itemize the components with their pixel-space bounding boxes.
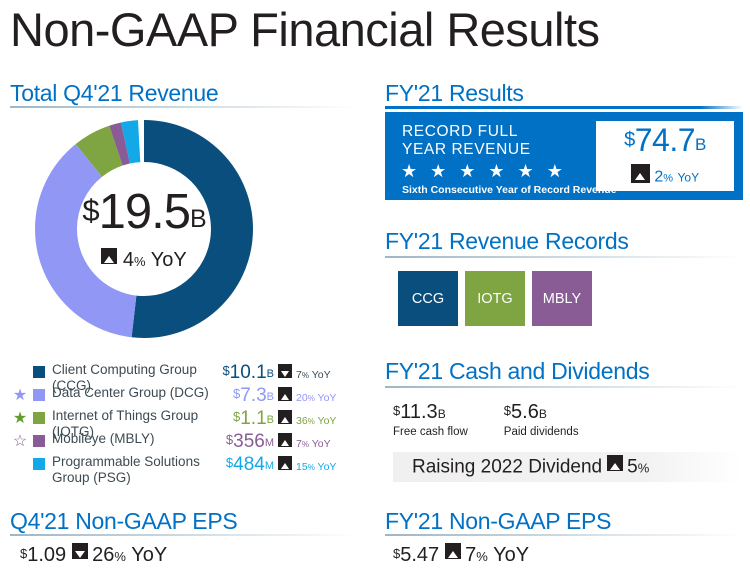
legend-delta-ccg: 7% YoY bbox=[278, 364, 360, 383]
legend-item-psg: Programmable Solutions Group (PSG) $484M… bbox=[12, 454, 360, 488]
q4-eps-pct: % bbox=[114, 549, 126, 564]
free-cash-flow-figure: $11.3B Free cash flow bbox=[393, 400, 468, 439]
fy-revenue-yoy-label: YoY bbox=[678, 171, 700, 185]
legend-swatch-dcg bbox=[33, 389, 45, 401]
legend-unit-ccg: B bbox=[267, 368, 274, 380]
legend-delta-yoy-dcg: YoY bbox=[318, 392, 337, 404]
legend-delta-pct-dcg: % bbox=[308, 394, 315, 403]
legend-delta-pct-iotg: % bbox=[308, 417, 315, 426]
star-rating-icons: ★ ★ ★ ★ ★ ★ bbox=[401, 162, 567, 180]
section-header-revenue-records: FY'21 Revenue Records bbox=[385, 228, 629, 254]
donut-yoy-value: 4 bbox=[123, 248, 134, 270]
donut-total-value: $19.5B bbox=[82, 186, 205, 244]
section-header-total-revenue: Total Q4'21 Revenue bbox=[10, 80, 218, 106]
legend-delta-pct-ccg: % bbox=[302, 371, 309, 380]
legend-number-iotg: 1.1 bbox=[240, 408, 266, 429]
triangle-up-icon bbox=[631, 164, 650, 183]
legend-swatch-iotg bbox=[33, 412, 45, 424]
q4-eps-number: 1.09 bbox=[27, 544, 66, 566]
section-rule-revenue-records bbox=[385, 256, 743, 258]
free-cash-flow-number: 11.3 bbox=[400, 401, 437, 423]
legend-item-iotg: ★ Internet of Things Group (IOTG) $1.1B … bbox=[12, 408, 360, 431]
record-box-iotg: IOTG bbox=[465, 271, 525, 326]
donut-unit: B bbox=[190, 205, 206, 233]
section-rule-total-revenue bbox=[10, 106, 358, 108]
free-cash-flow-unit: B bbox=[438, 407, 446, 421]
fy-revenue-currency: $ bbox=[624, 129, 635, 151]
record-revenue-banner: RECORD FULL YEAR REVENUE ★ ★ ★ ★ ★ ★ Six… bbox=[385, 112, 743, 200]
triangle-down-icon bbox=[72, 543, 88, 559]
q4-eps-value: $1.0926% YoY bbox=[20, 542, 167, 569]
legend-currency-ccg: $ bbox=[222, 363, 229, 378]
legend-number-dcg: 7.3 bbox=[240, 385, 266, 406]
revenue-donut-chart: $19.5B 4% YoY bbox=[27, 112, 261, 346]
legend-item-dcg: ★ Data Center Group (DCG) $7.3B 20% YoY bbox=[12, 385, 360, 408]
fy-revenue-yoy-pct: % bbox=[663, 173, 673, 185]
paid-dividends-figure: $5.6B Paid dividends bbox=[504, 400, 579, 439]
legend-number-ccg: 10.1 bbox=[230, 362, 267, 383]
triangle-up-icon bbox=[278, 387, 292, 401]
dividend-raise-bar: Raising 2022 Dividend5% bbox=[393, 452, 741, 482]
legend-item-ccg: Client Computing Group (CCG) $10.1B 7% Y… bbox=[12, 362, 360, 385]
legend-delta-yoy-mbly: YoY bbox=[312, 438, 331, 450]
paid-dividends-label: Paid dividends bbox=[504, 425, 579, 439]
legend-delta-pct-psg: % bbox=[308, 463, 315, 472]
legend-label-mbly: Mobileye (MBLY) bbox=[52, 431, 232, 447]
donut-yoy-pct: % bbox=[134, 253, 146, 268]
dividend-raise-text-wrap: Raising 2022 Dividend5% bbox=[412, 455, 649, 480]
donut-number: 19.5 bbox=[99, 185, 190, 239]
fy-revenue-yoy: 2% YoY bbox=[631, 164, 699, 188]
legend-unit-mbly: M bbox=[265, 437, 274, 449]
page-title: Non-GAAP Financial Results bbox=[10, 2, 600, 58]
fy-revenue-value: $74.7B bbox=[624, 124, 706, 161]
paid-dividends-value: $5.6B bbox=[504, 400, 579, 425]
fy-eps-delta: 7 bbox=[465, 544, 476, 566]
legend-number-mbly: 356 bbox=[233, 431, 265, 452]
q4-eps-yoy: YoY bbox=[131, 544, 167, 566]
legend-label-dcg: Data Center Group (DCG) bbox=[52, 385, 232, 401]
banner-subtext: Sixth Consecutive Year of Record Revenue bbox=[402, 184, 617, 196]
dividend-raise-label: Raising 2022 Dividend bbox=[412, 456, 602, 477]
star-outline-icon: ☆ bbox=[12, 434, 28, 450]
section-rule-q4-eps bbox=[10, 534, 358, 536]
section-rule-fy-results bbox=[385, 106, 743, 109]
record-box-mbly: MBLY bbox=[532, 271, 592, 326]
legend-value-iotg: $1.1B bbox=[233, 407, 274, 430]
fy-revenue-unit: B bbox=[695, 135, 706, 154]
legend-delta-dcg: 20% YoY bbox=[278, 387, 360, 406]
fy-eps-number: 5.47 bbox=[400, 544, 439, 566]
legend-delta-yoy-psg: YoY bbox=[318, 461, 337, 473]
legend-unit-dcg: B bbox=[267, 391, 274, 403]
fy-eps-value: $5.477% YoY bbox=[393, 542, 529, 569]
section-header-fy-results: FY'21 Results bbox=[385, 80, 524, 106]
section-rule-cash-dividends bbox=[385, 386, 743, 388]
triangle-up-icon bbox=[278, 456, 292, 470]
legend-delta-value-dcg: 20 bbox=[296, 392, 308, 404]
legend-item-mbly: ☆ Mobileye (MBLY) $356M 7% YoY bbox=[12, 431, 360, 454]
donut-center-label: $19.5B 4% YoY bbox=[27, 112, 261, 346]
fy-revenue-box: $74.7B 2% YoY bbox=[596, 121, 734, 191]
section-header-cash-dividends: FY'21 Cash and Dividends bbox=[385, 358, 649, 384]
legend-label-psg: Programmable Solutions Group (PSG) bbox=[52, 454, 212, 486]
legend-value-ccg: $10.1B bbox=[222, 361, 274, 384]
legend-swatch-psg bbox=[33, 458, 45, 470]
legend-delta-value-iotg: 36 bbox=[296, 415, 308, 427]
donut-yoy: 4% YoY bbox=[101, 248, 186, 273]
record-box-ccg: CCG bbox=[398, 271, 458, 326]
fy-revenue-number: 74.7 bbox=[635, 122, 695, 158]
star-filled-icon: ★ bbox=[12, 388, 28, 404]
banner-headline: RECORD FULL YEAR REVENUE bbox=[402, 123, 531, 159]
fy-eps-pct: % bbox=[476, 549, 488, 564]
free-cash-flow-value: $11.3B bbox=[393, 400, 468, 425]
legend-swatch-mbly bbox=[33, 435, 45, 447]
free-cash-flow-label: Free cash flow bbox=[393, 425, 468, 439]
fy-revenue-yoy-value: 2 bbox=[654, 169, 663, 186]
q4-eps-delta: 26 bbox=[92, 544, 114, 566]
triangle-down-icon bbox=[278, 364, 292, 378]
cash-figures: $11.3B Free cash flow $5.6B Paid dividen… bbox=[393, 400, 579, 439]
donut-currency: $ bbox=[82, 193, 98, 228]
legend-swatch-ccg bbox=[33, 366, 45, 378]
legend-delta-pct-mbly: % bbox=[302, 440, 309, 449]
donut-yoy-label: YoY bbox=[151, 248, 187, 270]
fy-eps-yoy: YoY bbox=[493, 544, 529, 566]
triangle-up-icon bbox=[607, 455, 623, 471]
legend-unit-iotg: B bbox=[267, 414, 274, 426]
legend-delta-iotg: 36% YoY bbox=[278, 410, 360, 429]
paid-dividends-currency: $ bbox=[504, 403, 511, 418]
triangle-up-icon bbox=[278, 410, 292, 424]
revenue-record-boxes: CCG IOTG MBLY bbox=[398, 271, 592, 326]
legend-number-psg: 484 bbox=[233, 454, 265, 475]
legend-delta-mbly: 7% YoY bbox=[278, 433, 360, 452]
legend-value-psg: $484M bbox=[226, 453, 274, 476]
legend-unit-psg: M bbox=[265, 460, 274, 472]
legend-delta-value-psg: 15 bbox=[296, 461, 308, 473]
section-rule-fy-eps bbox=[385, 534, 743, 536]
legend-delta-psg: 15% YoY bbox=[278, 456, 360, 475]
star-filled-icon: ★ bbox=[12, 411, 28, 427]
revenue-legend: Client Computing Group (CCG) $10.1B 7% Y… bbox=[12, 362, 360, 488]
section-header-fy-eps: FY'21 Non-GAAP EPS bbox=[385, 508, 611, 534]
paid-dividends-number: 5.6 bbox=[511, 401, 539, 423]
legend-delta-yoy-ccg: YoY bbox=[312, 369, 331, 381]
legend-delta-yoy-iotg: YoY bbox=[318, 415, 337, 427]
triangle-up-icon bbox=[101, 248, 117, 264]
section-header-q4-eps: Q4'21 Non-GAAP EPS bbox=[10, 508, 237, 534]
legend-value-mbly: $356M bbox=[226, 430, 274, 453]
triangle-up-icon bbox=[445, 543, 461, 559]
legend-value-dcg: $7.3B bbox=[233, 384, 274, 407]
triangle-up-icon bbox=[278, 433, 292, 447]
dividend-raise-pct: % bbox=[638, 460, 650, 475]
paid-dividends-unit: B bbox=[539, 407, 547, 421]
dividend-raise-delta: 5 bbox=[627, 456, 638, 477]
